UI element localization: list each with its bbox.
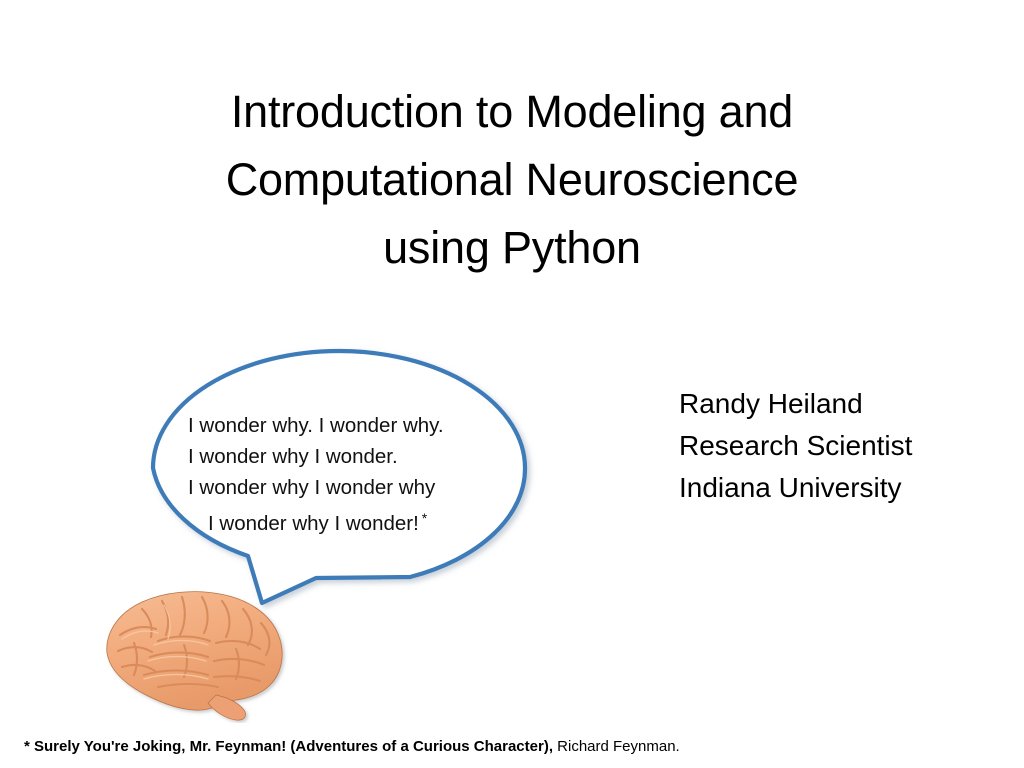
speech-bubble-text: I wonder why. I wonder why. I wonder why…: [188, 410, 518, 539]
footnote-marker: *: [24, 738, 30, 755]
title-line-1: Introduction to Modeling and: [90, 78, 934, 146]
author-name: Randy Heiland: [679, 383, 912, 425]
footnote-author: Richard Feynman.: [557, 738, 680, 755]
footnote: * Surely You're Joking, Mr. Feynman! (Ad…: [24, 737, 680, 757]
author-affiliation: Indiana University: [679, 467, 912, 509]
footnote-book-title: Surely You're Joking, Mr. Feynman! (Adve…: [34, 738, 553, 755]
brain-icon: [98, 583, 298, 723]
brain-image: [98, 583, 298, 723]
footnote-marker-superscript: *: [419, 510, 427, 526]
bubble-line-2: I wonder why I wonder.: [188, 441, 518, 472]
title-line-2: Computational Neuroscience: [90, 146, 934, 214]
slide-title: Introduction to Modeling and Computation…: [90, 78, 934, 282]
author-role: Research Scientist: [679, 425, 912, 467]
bubble-line-4-text: I wonder why I wonder!: [208, 512, 419, 535]
presentation-slide: Introduction to Modeling and Computation…: [0, 0, 1024, 768]
bubble-line-1: I wonder why. I wonder why.: [188, 410, 518, 441]
bubble-line-4: I wonder why I wonder!*: [188, 503, 518, 539]
author-block: Randy Heiland Research Scientist Indiana…: [679, 383, 912, 509]
bubble-line-3: I wonder why I wonder why: [188, 472, 518, 503]
title-line-3: using Python: [90, 214, 934, 282]
